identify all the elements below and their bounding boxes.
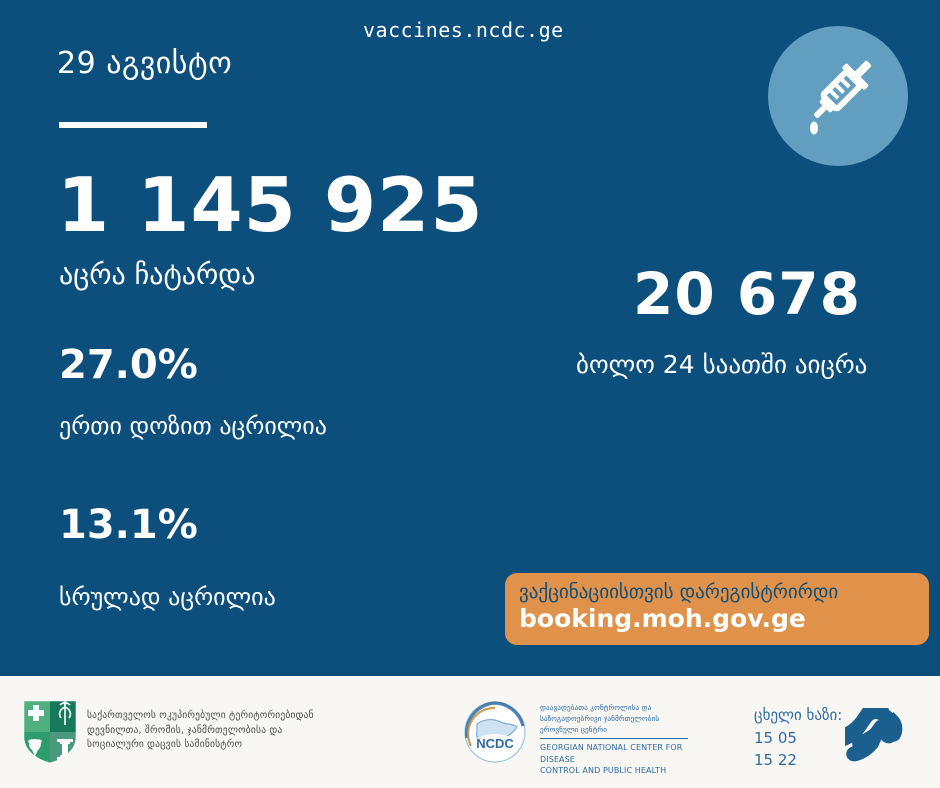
booking-banner-title: ვაქცინაციისთვის დარეგისტრირდი <box>519 582 929 604</box>
ncdc-globe-icon: NCDC <box>455 696 535 772</box>
ncdc-name-ka: დაავადებათა კონტროლისა და საზოგადოებრივი… <box>540 703 700 735</box>
ncdc-ka-line3: ეროვნული ცენტრი <box>540 725 700 736</box>
site-url-text: vaccines.ncdc.ge <box>363 18 564 42</box>
ministry-name-text: საქართველოს ოკუპირებული ტერიტორიებიდან დ… <box>87 709 337 753</box>
date-label: 29 აგვისტო <box>57 46 232 81</box>
ncdc-divider <box>540 738 688 739</box>
ministry-shield-icon <box>20 697 80 771</box>
ncdc-abbr-text: NCDC <box>476 736 514 751</box>
infographic-poster: vaccines.ncdc.ge 29 აგვისტო 1 145 925 აც… <box>0 0 940 788</box>
last-24h-value: 20 678 <box>633 265 861 323</box>
last-24h-label: ბოლო 24 საათში აიცრა <box>576 350 867 379</box>
footer-bar: საქართველოს ოკუპირებული ტერიტორიებიდან დ… <box>0 676 940 788</box>
one-dose-percent-value: 27.0% <box>59 345 198 385</box>
main-panel: vaccines.ncdc.ge 29 აგვისტო 1 145 925 აც… <box>0 0 940 676</box>
fully-vaccinated-percent-value: 13.1% <box>59 505 198 545</box>
ministry-name-line3: სოციალური დაცვის სამინისტრო <box>87 738 337 753</box>
booking-banner[interactable]: ვაქცინაციისთვის დარეგისტრირდი booking.mo… <box>505 573 929 645</box>
booking-banner-url[interactable]: booking.moh.gov.ge <box>519 605 929 634</box>
header-divider <box>59 122 207 128</box>
syringe-icon <box>768 26 908 166</box>
fully-vaccinated-percent-label: სრულად აცრილია <box>59 583 276 611</box>
phone-icon <box>845 708 907 774</box>
ncdc-ka-line2: საზოგადოებრივი ჯანმრთელობის <box>540 714 700 725</box>
hotline-number-1: 15 05 <box>754 729 797 747</box>
one-dose-percent-label: ერთი დოზით აცრილია <box>59 412 327 440</box>
ncdc-ka-line1: დაავადებათა კონტროლისა და <box>540 703 700 714</box>
ncdc-name-en: GEORGIAN NATIONAL CENTER FOR DISEASE CON… <box>540 742 705 777</box>
ministry-name-line1: საქართველოს ოკუპირებული ტერიტორიებიდან <box>87 709 337 724</box>
total-vaccinations-label: აცრა ჩატარდა <box>59 258 255 291</box>
ncdc-en-line2: CONTROL AND PUBLIC HEALTH <box>540 765 705 777</box>
total-vaccinations-value: 1 145 925 <box>57 168 484 243</box>
ministry-name-line2: დევნილთა, შრომის, ჯანმრთელობისა და <box>87 724 337 739</box>
hotline-number-2: 15 22 <box>754 751 797 769</box>
ncdc-en-line1: GEORGIAN NATIONAL CENTER FOR DISEASE <box>540 742 705 765</box>
hotline-label: ცხელი ხაზი: <box>754 706 842 724</box>
